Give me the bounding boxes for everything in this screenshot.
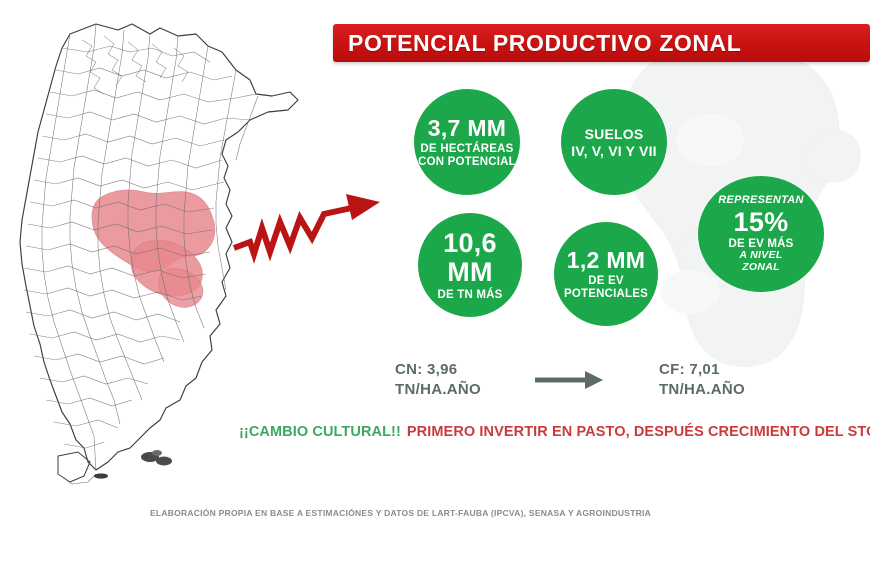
stat-label-soils-line2: IV, V, VI Y VII (571, 144, 657, 159)
stat-value-tn: 10,6 (443, 229, 497, 258)
slogan-line: ¡¡CAMBIO CULTURAL!!PRIMERO INVERTIR EN P… (239, 424, 870, 440)
stat-label-soils-line1: SUELOS (585, 127, 644, 142)
right-arrow-icon (533, 369, 607, 391)
isla-estados (94, 473, 108, 478)
carga-flow-row: CN: 3,96 TN/HA.AÑO CF: 7,01 TN/HA.AÑO (395, 352, 745, 408)
stat-bubble-soils: SUELOS IV, V, VI Y VII (561, 89, 667, 195)
slogan-message: PRIMERO INVERTIR EN PASTO, DESPUÉS CRECI… (407, 424, 870, 440)
stat-bubble-ev: 1,2 MM DE EV POTENCIALES (554, 222, 658, 326)
tierra-del-fuego (58, 452, 96, 484)
slogan-highlight: ¡¡CAMBIO CULTURAL!! (239, 424, 401, 440)
page-title: POTENCIAL PRODUCTIVO ZONAL (333, 30, 741, 57)
carga-actual-block: CN: 3,96 TN/HA.AÑO (395, 360, 481, 401)
carga-actual-value: CN: 3,96 (395, 360, 481, 380)
source-footnote: ELABORACIÓN PROPIA EN BASE A ESTIMACIÓNE… (150, 508, 651, 518)
carga-futura-block: CF: 7,01 TN/HA.AÑO (659, 360, 745, 401)
carga-actual-unit: TN/HA.AÑO (395, 380, 481, 400)
stat-label-ev-line2: POTENCIALES (564, 288, 648, 300)
stat-unit-tn: MM (447, 258, 493, 287)
stat-bubble-percent: REPRESENTAN 15% DE EV MÁS A NIVEL ZONAL (698, 176, 824, 292)
stat-value-hectares: 3,7 MM (428, 116, 506, 141)
map-highlight-region (92, 190, 215, 307)
stat-value-ev: 1,2 MM (567, 248, 645, 273)
stat-label-ev-line1: DE EV (588, 275, 624, 287)
red-zigzag-arrow-icon (228, 192, 388, 270)
carga-futura-value: CF: 7,01 (659, 360, 745, 380)
islas-malvinas-icon (141, 450, 172, 466)
header-banner: POTENCIAL PRODUCTIVO ZONAL (333, 24, 870, 62)
stat-label-hectares-line2: CON POTENCIAL (418, 156, 516, 168)
stat-bubble-hectares: 3,7 MM DE HECTÁREAS CON POTENCIAL (414, 89, 520, 195)
infographic-canvas: POTENCIAL PRODUCTIVO ZONAL 3,7 MM DE HEC… (0, 0, 870, 580)
stat-label-hectares-line1: DE HECTÁREAS (420, 143, 513, 155)
stat-label-tn: DE TN MÁS (437, 289, 502, 301)
stat-label-percent-line4: ZONAL (742, 262, 780, 273)
stat-value-percent: 15% (734, 208, 789, 237)
carga-futura-unit: TN/HA.AÑO (659, 380, 745, 400)
stat-bubble-tn: 10,6 MM DE TN MÁS (418, 213, 522, 317)
stat-label-percent-top: REPRESENTAN (718, 195, 804, 207)
